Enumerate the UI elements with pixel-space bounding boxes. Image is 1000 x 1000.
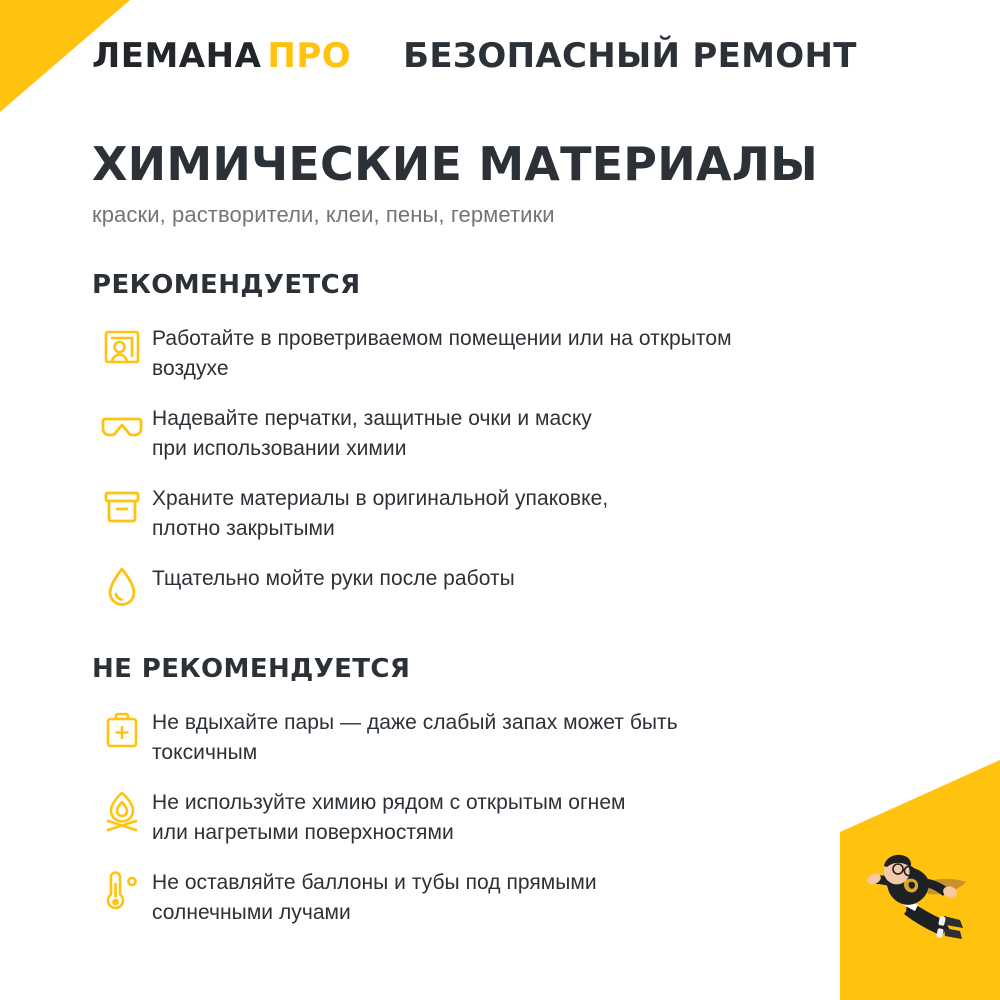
flying-superhero-mascot xyxy=(832,834,982,954)
tips-list-recommended: Работайте в проветриваемом помещении или… xyxy=(92,320,908,612)
brand-logo-primary: ЛЕМАНА xyxy=(92,36,261,76)
list-item-text: Надевайте перчатки, защитные очки и маск… xyxy=(152,400,908,464)
list-item-text: Не оставляйте баллоны и тубы под прямыми… xyxy=(152,864,908,928)
list-item: Надевайте перчатки, защитные очки и маск… xyxy=(92,400,908,464)
list-item: Не оставляйте баллоны и тубы под прямыми… xyxy=(92,864,908,928)
section-recommended: РЕКОМЕНДУЕТСЯ Работайте в проветриваемом… xyxy=(92,270,908,612)
brand-logo-accent: ПРО xyxy=(267,36,351,76)
page-subtitle: краски, растворители, клеи, пены, гермет… xyxy=(92,202,908,228)
section-not-recommended: НЕ РЕКОМЕНДУЕТСЯ Не вдыхайте пары — даже… xyxy=(92,654,908,928)
open-window-ventilation-icon xyxy=(92,320,152,372)
list-item: Не используйте химию рядом с открытым ог… xyxy=(92,784,908,848)
list-item-text: Храните материалы в оригинальной упаковк… xyxy=(152,480,908,544)
safety-goggles-icon xyxy=(92,400,152,452)
list-item-text: Тщательно мойте руки после работы xyxy=(152,560,908,594)
list-item: Работайте в проветриваемом помещении или… xyxy=(92,320,908,384)
campfire-open-flame-icon xyxy=(92,784,152,836)
list-item: Не вдыхайте пары — даже слабый запах мож… xyxy=(92,704,908,768)
thermometer-sun-icon xyxy=(92,864,152,916)
list-item-text: Не используйте химию рядом с открытым ог… xyxy=(152,784,908,848)
first-aid-kit-icon xyxy=(92,704,152,756)
list-item: Храните материалы в оригинальной упаковк… xyxy=(92,480,908,544)
header-title: БЕЗОПАСНЫЙ РЕМОНТ xyxy=(403,36,857,76)
main-content: ХИМИЧЕСКИЕ МАТЕРИАЛЫ краски, растворител… xyxy=(0,112,1000,944)
header-bar: ЛЕМАНАПРО БЕЗОПАСНЫЙ РЕМОНТ xyxy=(0,0,1000,112)
list-item-text: Работайте в проветриваемом помещении или… xyxy=(152,320,908,384)
section-heading-not-recommended: НЕ РЕКОМЕНДУЕТСЯ xyxy=(92,654,908,684)
list-item-text: Не вдыхайте пары — даже слабый запах мож… xyxy=(152,704,908,768)
list-item: Тщательно мойте руки после работы xyxy=(92,560,908,612)
section-heading-recommended: РЕКОМЕНДУЕТСЯ xyxy=(92,270,908,300)
water-drop-icon xyxy=(92,560,152,612)
tips-list-not-recommended: Не вдыхайте пары — даже слабый запах мож… xyxy=(92,704,908,928)
brand-logo[interactable]: ЛЕМАНАПРО xyxy=(92,36,351,76)
page-title: ХИМИЧЕСКИЕ МАТЕРИАЛЫ xyxy=(92,140,908,188)
storage-box-icon xyxy=(92,480,152,532)
